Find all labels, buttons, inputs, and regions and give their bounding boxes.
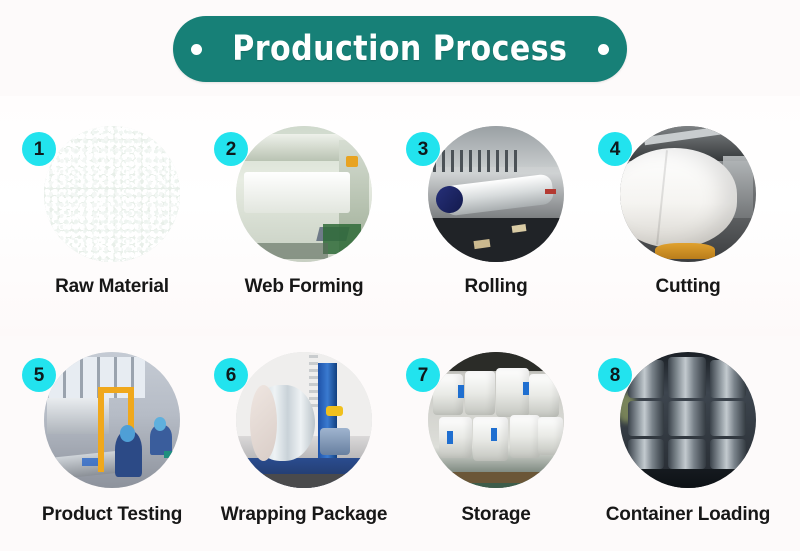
process-row-2: 5 Product Testing 6 [0, 352, 800, 526]
cutting-photo [620, 126, 756, 262]
step-number-badge-2: 2 [214, 132, 248, 166]
raw-material-photo [44, 126, 180, 262]
banner-dot-left-icon [191, 44, 202, 55]
banner-container: Production Process [0, 16, 800, 82]
step-label-1: Raw Material [55, 276, 169, 298]
step-label-7: Storage [461, 504, 530, 526]
thumb-holder: 7 [428, 352, 564, 488]
web-forming-photo [236, 126, 372, 262]
thumb-holder: 6 [236, 352, 372, 488]
step-number-badge-4: 4 [598, 132, 632, 166]
process-step-3[interactable]: 3 Rolling [408, 126, 584, 298]
storage-photo [428, 352, 564, 488]
process-step-8[interactable]: 8 Container Loading [600, 352, 776, 526]
thumb-holder: 4 [620, 126, 756, 262]
wrapping-package-photo [236, 352, 372, 488]
step-number-badge-6: 6 [214, 358, 248, 392]
process-step-2[interactable]: 2 Web Forming [216, 126, 392, 298]
step-number-badge-5: 5 [22, 358, 56, 392]
banner-dot-right-icon [598, 44, 609, 55]
thumb-holder: 3 [428, 126, 564, 262]
thumb-holder: 5 [44, 352, 180, 488]
process-step-6[interactable]: 6 Wrapping Package [216, 352, 392, 526]
step-number-badge-3: 3 [406, 132, 440, 166]
step-label-3: Rolling [465, 276, 528, 298]
step-number-badge-8: 8 [598, 358, 632, 392]
process-step-5[interactable]: 5 Product Testing [24, 352, 200, 526]
page-title: Production Process [232, 32, 567, 67]
process-row-1: 1 Raw Material 2 Web Forming [0, 126, 800, 298]
product-testing-photo [44, 352, 180, 488]
container-loading-photo [620, 352, 756, 488]
step-label-8: Container Loading [606, 504, 770, 526]
step-label-4: Cutting [655, 276, 720, 298]
thumb-holder: 1 [44, 126, 180, 262]
process-step-1[interactable]: 1 Raw Material [24, 126, 200, 298]
step-label-2: Web Forming [245, 276, 364, 298]
title-banner: Production Process [173, 16, 627, 82]
process-step-7[interactable]: 7 Storage [408, 352, 584, 526]
rolling-photo [428, 126, 564, 262]
step-label-5: Product Testing [42, 504, 182, 526]
step-label-6: Wrapping Package [221, 504, 387, 526]
step-number-badge-1: 1 [22, 132, 56, 166]
process-step-4[interactable]: 4 Cutting [600, 126, 776, 298]
thumb-holder: 2 [236, 126, 372, 262]
thumb-holder: 8 [620, 352, 756, 488]
production-process-infographic: Production Process 1 Raw Material 2 [0, 0, 800, 551]
step-number-badge-7: 7 [406, 358, 440, 392]
